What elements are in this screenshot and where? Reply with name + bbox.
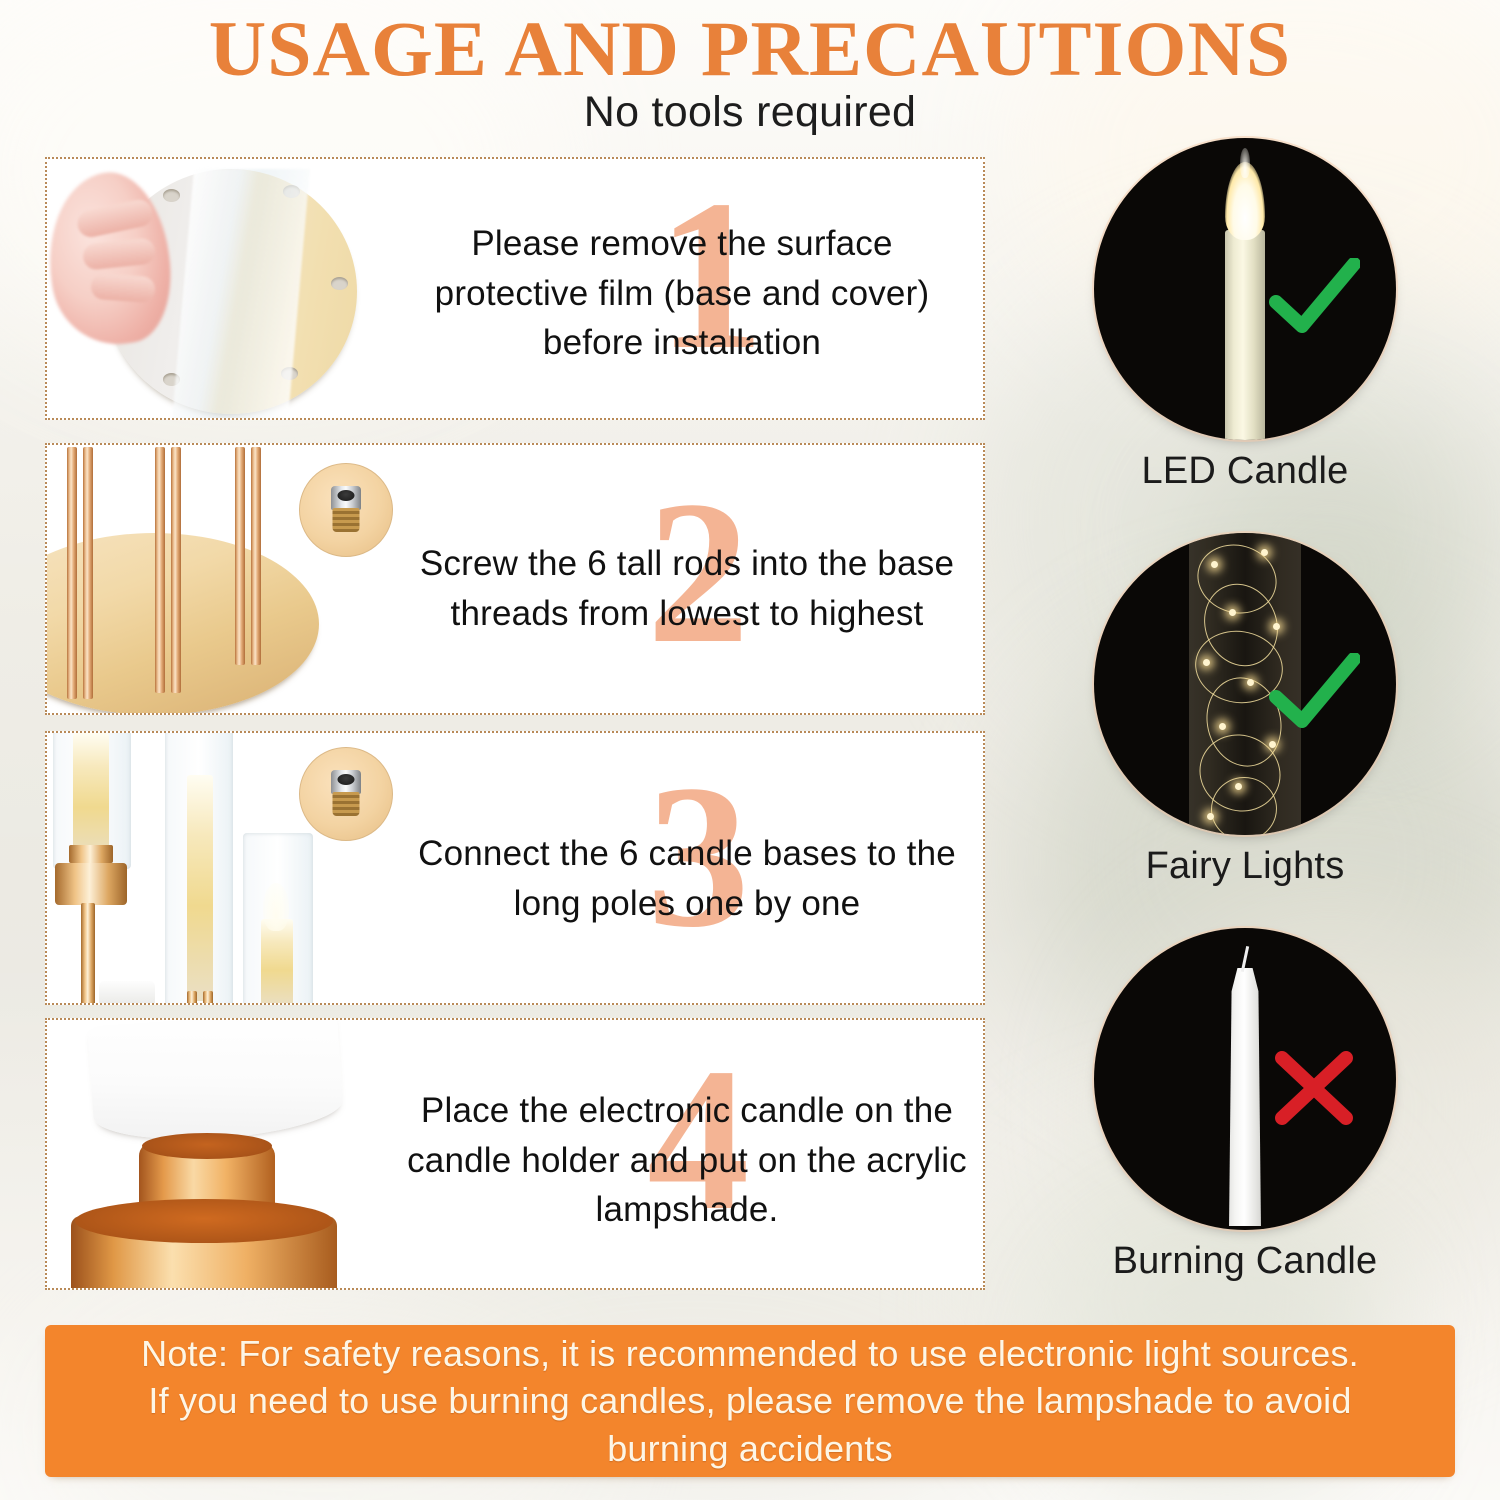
- led-candle-photo: [1094, 138, 1396, 440]
- acrylic-lampshade: [87, 1020, 345, 1147]
- note-line-1: Note: For safety reasons, it is recommen…: [141, 1333, 1359, 1374]
- fairy-lights-photo: [1094, 533, 1396, 835]
- white-base-piece: [99, 981, 155, 1003]
- led-candle: [187, 775, 213, 1001]
- step-card-4: 4 Place the electronic candle on the can…: [45, 1018, 985, 1290]
- screw-thread: [333, 792, 360, 816]
- screw-nut: [331, 770, 361, 794]
- cross-icon: [1268, 1048, 1360, 1128]
- safety-note-banner: Note: For safety reasons, it is recommen…: [45, 1325, 1455, 1477]
- wax-candle-body: [1224, 968, 1266, 1226]
- screw-nut: [331, 486, 361, 510]
- candle-cup-base: [71, 1216, 337, 1288]
- gold-cup: [55, 863, 127, 905]
- step-1-image: [47, 159, 377, 418]
- step-2-image: [47, 445, 347, 713]
- led-flame: [1225, 162, 1265, 240]
- screw-thread: [333, 508, 360, 532]
- screw-connector-inset: [299, 463, 393, 557]
- led-candle: [261, 919, 293, 1003]
- burning-candle-label: Burning Candle: [1094, 1240, 1396, 1283]
- page-title: USAGE AND PRECAUTIONS: [0, 4, 1500, 94]
- step-card-2: 2 Screw the 6 tall rods into the base th…: [45, 443, 985, 715]
- step-4-image: [47, 1020, 377, 1288]
- step-text-2: Screw the 6 tall rods into the base thre…: [397, 539, 977, 638]
- note-line-3: burning accidents: [607, 1428, 893, 1469]
- light-source-burning-candle: Burning Candle: [1094, 928, 1396, 1283]
- note-line-2: If you need to use burning candles, plea…: [148, 1380, 1351, 1421]
- check-icon: [1268, 653, 1360, 733]
- step-text-4: Place the electronic candle on the candl…: [397, 1086, 977, 1235]
- protective-film: [172, 169, 310, 418]
- gold-pole: [81, 903, 95, 1003]
- led-candle-body: [1225, 230, 1265, 440]
- page-subtitle: No tools required: [0, 88, 1500, 137]
- burning-candle-photo: [1094, 928, 1396, 1230]
- screw-connector-inset: [299, 747, 393, 841]
- step-text-1: Please remove the surface protective fil…: [397, 219, 967, 368]
- check-icon: [1268, 258, 1360, 338]
- step-card-1: 1 Please remove the surface protective f…: [45, 157, 985, 420]
- gold-collar: [203, 991, 213, 1003]
- led-candle: [73, 733, 109, 861]
- step-text-3: Connect the 6 candle bases to the long p…: [397, 829, 977, 928]
- gold-collar: [69, 845, 113, 863]
- light-source-fairy-lights: Fairy Lights: [1094, 533, 1396, 888]
- fairy-lights-label: Fairy Lights: [1094, 845, 1396, 888]
- led-candle-label: LED Candle: [1094, 450, 1396, 493]
- gold-collar: [187, 991, 197, 1003]
- light-source-led-candle: LED Candle: [1094, 138, 1396, 493]
- candle-flame: [263, 883, 289, 931]
- step-card-3: 3 Connect the 6 candle bases to the long…: [45, 731, 985, 1005]
